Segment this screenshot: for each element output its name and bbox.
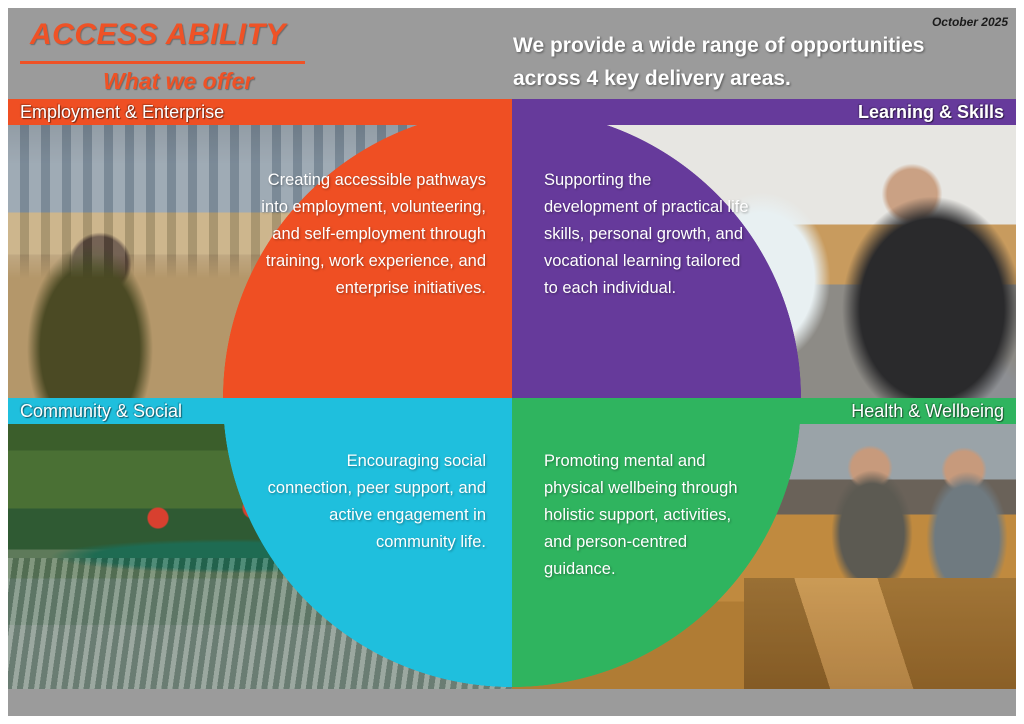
date-stamp: October 2025 bbox=[932, 15, 1008, 29]
quadrant-body-learning-skills: Supporting the development of practical … bbox=[544, 167, 749, 301]
quadrant-label-community-social: Community & Social bbox=[8, 401, 194, 422]
title-underline bbox=[20, 61, 305, 64]
quadrant-label-bar-learning-skills: Learning & Skills bbox=[512, 99, 1016, 125]
slide-header: ACCESS ABILITY What we offer October 202… bbox=[8, 8, 1016, 99]
quadrant-health-wellbeing[interactable]: Health & Wellbeing Promoting mental and … bbox=[512, 398, 1016, 689]
quadrant-employment-enterprise[interactable]: Employment & Enterprise Creating accessi… bbox=[8, 99, 512, 398]
quadrant-label-bar-health-wellbeing: Health & Wellbeing bbox=[512, 398, 1016, 424]
page-title: ACCESS ABILITY bbox=[30, 18, 286, 52]
quadrant-body-employment-enterprise: Creating accessible pathways into employ… bbox=[258, 167, 486, 301]
quadrant-label-bar-employment-enterprise: Employment & Enterprise bbox=[8, 99, 512, 125]
slide-canvas: ACCESS ABILITY What we offer October 202… bbox=[8, 8, 1016, 716]
quadrant-label-bar-community-social: Community & Social bbox=[8, 398, 512, 424]
quadrant-label-health-wellbeing: Health & Wellbeing bbox=[839, 401, 1016, 422]
footer-strip bbox=[8, 689, 1016, 716]
page-subtitle: What we offer bbox=[103, 68, 253, 95]
intro-statement: We provide a wide range of opportunities… bbox=[513, 30, 983, 95]
quadrant-learning-skills[interactable]: Learning & Skills Supporting the develop… bbox=[512, 99, 1016, 398]
quadrant-label-learning-skills: Learning & Skills bbox=[846, 102, 1016, 123]
quadrant-body-health-wellbeing: Promoting mental and physical wellbeing … bbox=[544, 448, 754, 582]
quadrant-label-employment-enterprise: Employment & Enterprise bbox=[8, 102, 236, 123]
quadrant-community-social[interactable]: Community & Social Encouraging social co… bbox=[8, 398, 512, 689]
quadrant-body-community-social: Encouraging social connection, peer supp… bbox=[258, 448, 486, 556]
